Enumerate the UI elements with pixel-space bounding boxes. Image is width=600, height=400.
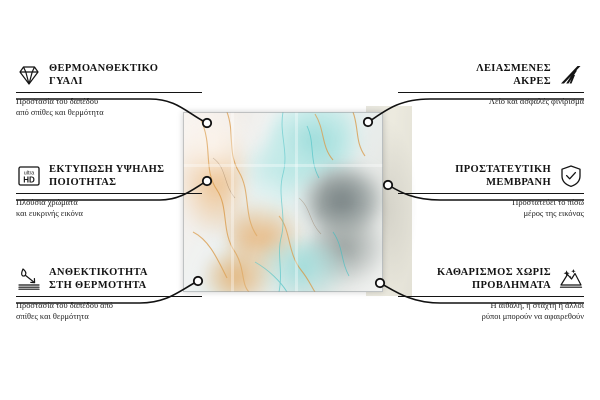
shield-check-icon: [558, 163, 584, 189]
feature-protective-membrane: ΠΡΟΣΤΑΤΕΥΤΙΚΗ ΜΕΜΒΡΑΝΗ Προστατεύει το πί…: [398, 163, 584, 219]
feature-divider: [16, 296, 202, 297]
feature-description: Προστατεύει το πίσω μέρος της εικόνας: [398, 198, 584, 219]
feature-title-wrap: ΑΝΘΕΚΤΙΚΟΤΗΤΑ ΣΤΗ ΘΕΡΜΟΤΗΤΑ: [49, 266, 202, 292]
feature-title-wrap: ΚΑΘΑΡΙΣΜΟΣ ΧΩΡΙΣ ΠΡΟΒΛΗΜΑΤΑ: [398, 266, 551, 292]
feature-head: ΘΕΡΜΟΑΝΘΕΚΤΙΚΟ ΓΥΑΛΙ: [16, 62, 202, 88]
feature-title-wrap: ΛΕΙΑΣΜΕΝΕΣ ΑΚΡΕΣ: [398, 62, 551, 88]
ultra-hd-icon: ultra HD: [16, 163, 42, 189]
feature-desc-line1: Λείο και ασφαλές φινίρισμα: [398, 97, 584, 108]
feature-polished-edges: ΛΕΙΑΣΜΕΝΕΣ ΑΚΡΕΣ Λείο και ασφαλές φινίρι…: [398, 62, 584, 108]
feature-title-line1: ΚΑΘΑΡΙΣΜΟΣ ΧΩΡΙΣ: [398, 266, 551, 279]
feature-title-wrap: ΕΚΤΥΠΩΣΗ ΥΨΗΛΗΣ ΠΟΙΟΤΗΤΑΣ: [49, 163, 202, 189]
feature-divider: [398, 92, 584, 93]
feature-description: Πλούσια χρώματα και ευκρινής εικόνα: [16, 198, 202, 219]
feature-description: Προστασία του δαπέδου από σπίθες και θερ…: [16, 301, 202, 322]
feature-title-line1: ΑΝΘΕΚΤΙΚΟΤΗΤΑ: [49, 266, 202, 279]
feature-description: Η αιθάλη, η στάχτη ή άλλοι ρύποι μπορούν…: [398, 301, 584, 322]
feature-heat-durability: ΑΝΘΕΚΤΙΚΟΤΗΤΑ ΣΤΗ ΘΕΡΜΟΤΗΤΑ Προστασία το…: [16, 266, 202, 322]
feature-desc-line1: Προστασία του δαπέδου: [16, 97, 202, 108]
feature-easy-cleaning: ΚΑΘΑΡΙΣΜΟΣ ΧΩΡΙΣ ΠΡΟΒΛΗΜΑΤΑ Η αιθάλη, η …: [398, 266, 584, 322]
feature-desc-line2: ρύποι μπορούν να αφαιρεθούν: [398, 312, 584, 323]
product-image: [183, 112, 383, 292]
feature-desc-line1: Προστασία του δαπέδου από: [16, 301, 202, 312]
feature-title-line1: ΛΕΙΑΣΜΕΝΕΣ: [398, 62, 551, 75]
feature-desc-line1: Προστατεύει το πίσω: [398, 198, 584, 209]
feature-desc-line1: Πλούσια χρώματα: [16, 198, 202, 209]
feature-title-line1: ΕΚΤΥΠΩΣΗ ΥΨΗΛΗΣ: [49, 163, 202, 176]
feature-head: ΛΕΙΑΣΜΕΝΕΣ ΑΚΡΕΣ: [398, 62, 584, 88]
feature-head: ΚΑΘΑΡΙΣΜΟΣ ΧΩΡΙΣ ΠΡΟΒΛΗΜΑΤΑ: [398, 266, 584, 292]
feature-desc-line2: από σπίθες και θερμότητα: [16, 108, 202, 119]
diamond-icon: [16, 62, 42, 88]
feature-heat-resistant-glass: ΘΕΡΜΟΑΝΘΕΚΤΙΚΟ ΓΥΑΛΙ Προστασία του δαπέδ…: [16, 62, 202, 118]
feature-divider: [16, 92, 202, 93]
feature-divider: [16, 193, 202, 194]
feature-high-quality-print: ultra HD ΕΚΤΥΠΩΣΗ ΥΨΗΛΗΣ ΠΟΙΟΤΗΤΑΣ Πλούσ…: [16, 163, 202, 219]
glass-edge: [183, 112, 383, 292]
heat-resistance-icon: [16, 266, 42, 292]
feature-divider: [398, 193, 584, 194]
feature-description: Λείο και ασφαλές φινίρισμα: [398, 97, 584, 108]
polished-edges-icon: [558, 62, 584, 88]
feature-title-line2: ΠΡΟΒΛΗΜΑΤΑ: [398, 279, 551, 292]
feature-desc-line1: Η αιθάλη, η στάχτη ή άλλοι: [398, 301, 584, 312]
feature-title-line2: ΠΟΙΟΤΗΤΑΣ: [49, 176, 202, 189]
svg-text:HD: HD: [23, 175, 35, 184]
feature-title-line1: ΠΡΟΣΤΑΤΕΥΤΙΚΗ: [398, 163, 551, 176]
feature-description: Προστασία του δαπέδου από σπίθες και θερ…: [16, 97, 202, 118]
feature-desc-line2: και ευκρινής εικόνα: [16, 209, 202, 220]
feature-title-line2: ΑΚΡΕΣ: [398, 75, 551, 88]
easy-cleaning-icon: [558, 266, 584, 292]
feature-head: ultra HD ΕΚΤΥΠΩΣΗ ΥΨΗΛΗΣ ΠΟΙΟΤΗΤΑΣ: [16, 163, 202, 189]
feature-divider: [398, 296, 584, 297]
feature-title-line2: ΓΥΑΛΙ: [49, 75, 202, 88]
feature-desc-line2: μέρος της εικόνας: [398, 209, 584, 220]
feature-title-wrap: ΠΡΟΣΤΑΤΕΥΤΙΚΗ ΜΕΜΒΡΑΝΗ: [398, 163, 551, 189]
infographic-canvas: ΘΕΡΜΟΑΝΘΕΚΤΙΚΟ ΓΥΑΛΙ Προστασία του δαπέδ…: [0, 0, 600, 400]
feature-title-line2: ΣΤΗ ΘΕΡΜΟΤΗΤΑ: [49, 279, 202, 292]
feature-head: ΠΡΟΣΤΑΤΕΥΤΙΚΗ ΜΕΜΒΡΑΝΗ: [398, 163, 584, 189]
feature-desc-line2: σπίθες και θερμότητα: [16, 312, 202, 323]
feature-title-line1: ΘΕΡΜΟΑΝΘΕΚΤΙΚΟ: [49, 62, 202, 75]
feature-title-wrap: ΘΕΡΜΟΑΝΘΕΚΤΙΚΟ ΓΥΑΛΙ: [49, 62, 202, 88]
feature-head: ΑΝΘΕΚΤΙΚΟΤΗΤΑ ΣΤΗ ΘΕΡΜΟΤΗΤΑ: [16, 266, 202, 292]
feature-title-line2: ΜΕΜΒΡΑΝΗ: [398, 176, 551, 189]
